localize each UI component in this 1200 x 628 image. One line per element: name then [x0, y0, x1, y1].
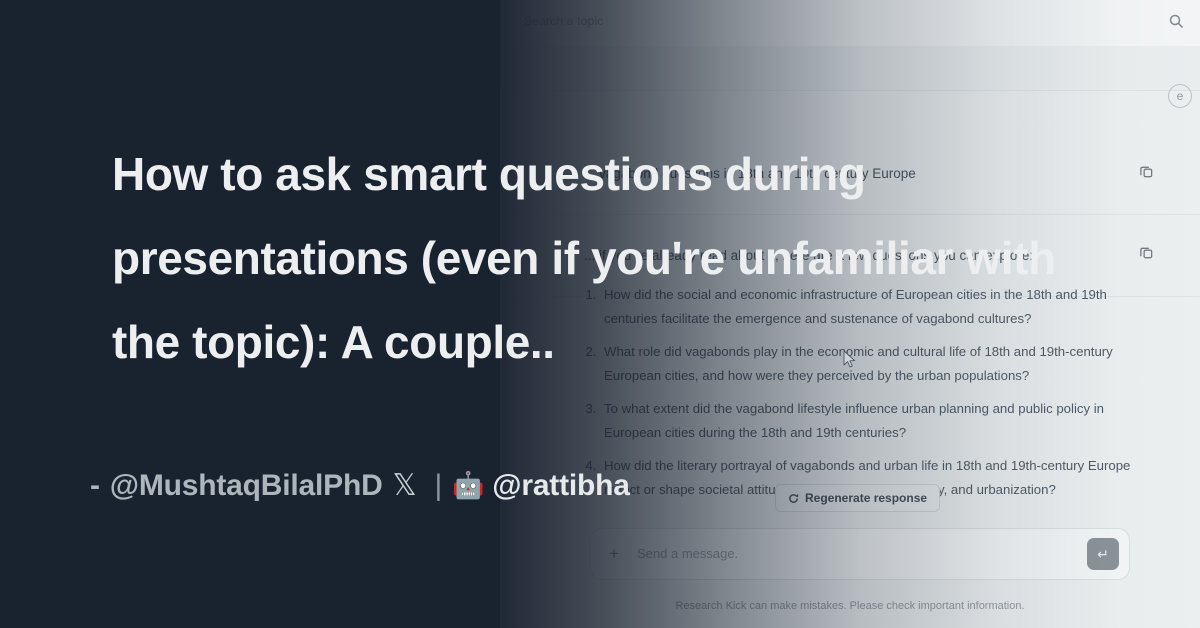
attribution-separator: |	[435, 469, 443, 503]
robot-icon: 🤖	[452, 470, 484, 501]
attribution: - @MushtaqBilalPhD 𝕏 | 🤖 @rattibha	[90, 468, 630, 503]
page-title: How to ask smart questions during presen…	[112, 132, 1112, 384]
attribution-handle-rattibha[interactable]: @rattibha	[492, 469, 629, 503]
attribution-dash: -	[90, 469, 100, 503]
mouse-cursor-icon	[843, 350, 857, 370]
attribution-handle-author[interactable]: @MushtaqBilalPhD	[110, 469, 383, 503]
social-share-card: Search a topic e ... vagabond questions …	[0, 0, 1200, 628]
x-logo-icon: 𝕏	[393, 468, 417, 503]
